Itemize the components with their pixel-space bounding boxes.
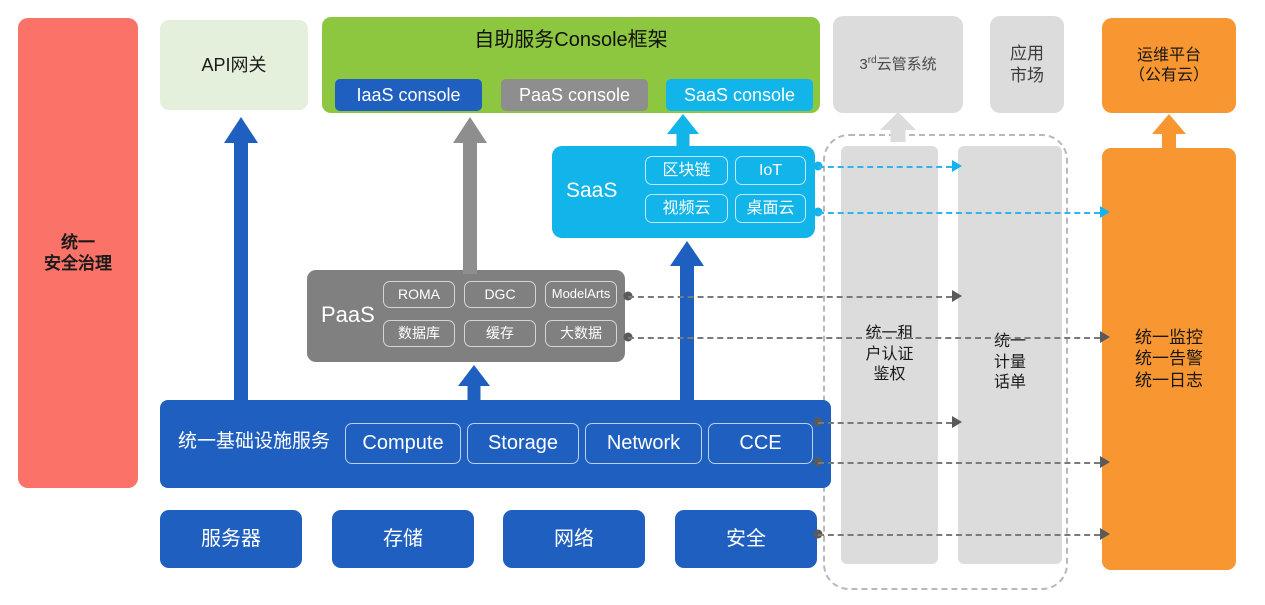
unified-monitoring-label: 统一监控 统一告警 统一日志	[1135, 327, 1203, 391]
paas-chip-cache[interactable]: 缓存	[464, 320, 536, 347]
api-gateway-box: API网关	[160, 20, 308, 110]
unified-monitoring-panel: 统一监控 统一告警 统一日志	[1102, 148, 1236, 570]
saas-chip-video-cloud[interactable]: 视频云	[645, 194, 728, 223]
arrow-infra-to-saas	[670, 241, 704, 402]
infra-chip-network[interactable]: Network	[585, 423, 702, 464]
hardware-box-network-label: 网络	[554, 527, 594, 552]
hardware-box-server: 服务器	[160, 510, 302, 568]
connector-hardware-to-ops	[818, 534, 1100, 536]
connector-paas-to-metering	[628, 296, 952, 298]
saas-console-chip[interactable]: SaaS console	[666, 79, 813, 111]
self-service-console-framework: 自助服务Console框架 IaaS console PaaS console …	[322, 17, 820, 113]
arrow-paas-to-console	[453, 117, 487, 274]
arrowhead-infra-to-metering	[952, 416, 962, 428]
third-party-cloud-management-label: 3rd云管系统	[859, 55, 936, 75]
unified-infrastructure-service-label: 统一基础设施服务	[178, 430, 330, 454]
hardware-box-server-label: 服务器	[201, 527, 261, 552]
arrowhead-hardware-to-ops	[1100, 528, 1110, 540]
arrow-infra-to-api-gateway	[224, 117, 258, 402]
unified-tenant-auth-label: 统一租 户认证 鉴权	[865, 324, 913, 386]
paas-chip-dgc[interactable]: DGC	[464, 281, 536, 308]
ops-platform-public-cloud-box: 运维平台 （公有云）	[1102, 18, 1236, 113]
paas-chip-cache-label: 缓存	[486, 325, 514, 343]
hardware-box-network: 网络	[503, 510, 645, 568]
connector-saas-to-ops	[818, 212, 1100, 214]
arrowhead-infra-to-ops	[1100, 456, 1110, 468]
iaas-console-label: IaaS console	[356, 84, 460, 107]
hardware-box-storage-label: 存储	[383, 527, 423, 552]
saas-chip-blockchain[interactable]: 区块链	[645, 156, 728, 185]
app-market-label: 应用 市场	[1010, 43, 1044, 86]
infra-chip-cce-label: CCE	[739, 431, 781, 456]
paas-layer-label: PaaS	[321, 301, 375, 329]
paas-chip-dgc-label: DGC	[484, 286, 515, 304]
connector-infra-to-ops	[818, 462, 1100, 464]
saas-chip-blockchain-label: 区块链	[662, 161, 710, 181]
saas-layer-label: SaaS	[566, 178, 617, 204]
paas-chip-roma[interactable]: ROMA	[383, 281, 455, 308]
unified-metering-billing-bar: 统一 计量 话单	[958, 146, 1062, 564]
paas-chip-bigdata-label: 大数据	[560, 325, 602, 343]
paas-chip-modelarts-label: ModelArts	[552, 286, 611, 302]
arrowhead-paas-to-metering	[952, 290, 962, 302]
saas-chip-iot-label: IoT	[759, 161, 782, 181]
console-framework-title: 自助服务Console框架	[322, 28, 820, 53]
unified-tenant-auth-bar: 统一租 户认证 鉴权	[841, 146, 938, 564]
third-party-cloud-management-box: 3rd云管系统	[833, 16, 963, 113]
paas-chip-bigdata[interactable]: 大数据	[545, 320, 617, 347]
arrow-infra-to-paas	[458, 365, 490, 402]
arrowhead-saas-to-ops	[1100, 206, 1110, 218]
arrowhead-saas-to-metering	[952, 160, 962, 172]
saas-chip-desktop-cloud-label: 桌面云	[746, 199, 794, 219]
api-gateway-label: API网关	[201, 54, 266, 77]
paas-layer-box: PaaS ROMA DGC ModelArts 数据库 缓存 大数据	[307, 270, 625, 362]
hardware-box-security: 安全	[675, 510, 817, 568]
arrow-saas-to-console	[667, 114, 699, 148]
unified-infrastructure-service-bar: 统一基础设施服务 Compute Storage Network CCE	[160, 400, 831, 488]
unified-security-governance-panel: 统一 安全治理	[18, 18, 138, 488]
unified-security-governance-label: 统一 安全治理	[44, 232, 112, 275]
arrowhead-paas-to-ops	[1100, 331, 1110, 343]
infra-chip-storage-label: Storage	[488, 431, 558, 456]
saas-chip-desktop-cloud[interactable]: 桌面云	[735, 194, 806, 223]
architecture-diagram: 统一 安全治理 API网关 自助服务Console框架 IaaS console…	[0, 0, 1265, 605]
arrow-ops-panel-to-ops-platform	[1152, 114, 1186, 149]
infra-chip-network-label: Network	[607, 431, 680, 456]
saas-layer-box: SaaS 区块链 IoT 视频云 桌面云	[552, 146, 815, 238]
ops-platform-public-cloud-label: 运维平台 （公有云）	[1129, 46, 1209, 86]
paas-console-chip[interactable]: PaaS console	[501, 79, 648, 111]
saas-chip-iot[interactable]: IoT	[735, 156, 806, 185]
infra-chip-cce[interactable]: CCE	[708, 423, 813, 464]
saas-console-label: SaaS console	[684, 84, 795, 107]
hardware-box-security-label: 安全	[726, 527, 766, 552]
paas-console-label: PaaS console	[519, 84, 630, 107]
arrow-shared-to-third-party	[880, 112, 916, 142]
infra-chip-storage[interactable]: Storage	[467, 423, 579, 464]
app-market-box: 应用 市场	[990, 16, 1064, 113]
infra-chip-compute-label: Compute	[362, 431, 443, 456]
hardware-box-storage: 存储	[332, 510, 474, 568]
paas-chip-database-label: 数据库	[398, 325, 440, 343]
paas-chip-modelarts[interactable]: ModelArts	[545, 281, 617, 308]
connector-paas-to-ops	[628, 337, 1100, 339]
iaas-console-chip[interactable]: IaaS console	[335, 79, 482, 111]
connector-saas-to-metering	[818, 166, 952, 168]
saas-chip-video-cloud-label: 视频云	[662, 199, 710, 219]
unified-metering-billing-label: 统一 计量 话单	[994, 332, 1026, 394]
paas-chip-database[interactable]: 数据库	[383, 320, 455, 347]
infra-chip-compute[interactable]: Compute	[345, 423, 461, 464]
paas-chip-roma-label: ROMA	[398, 286, 440, 304]
connector-infra-to-metering	[818, 422, 952, 424]
